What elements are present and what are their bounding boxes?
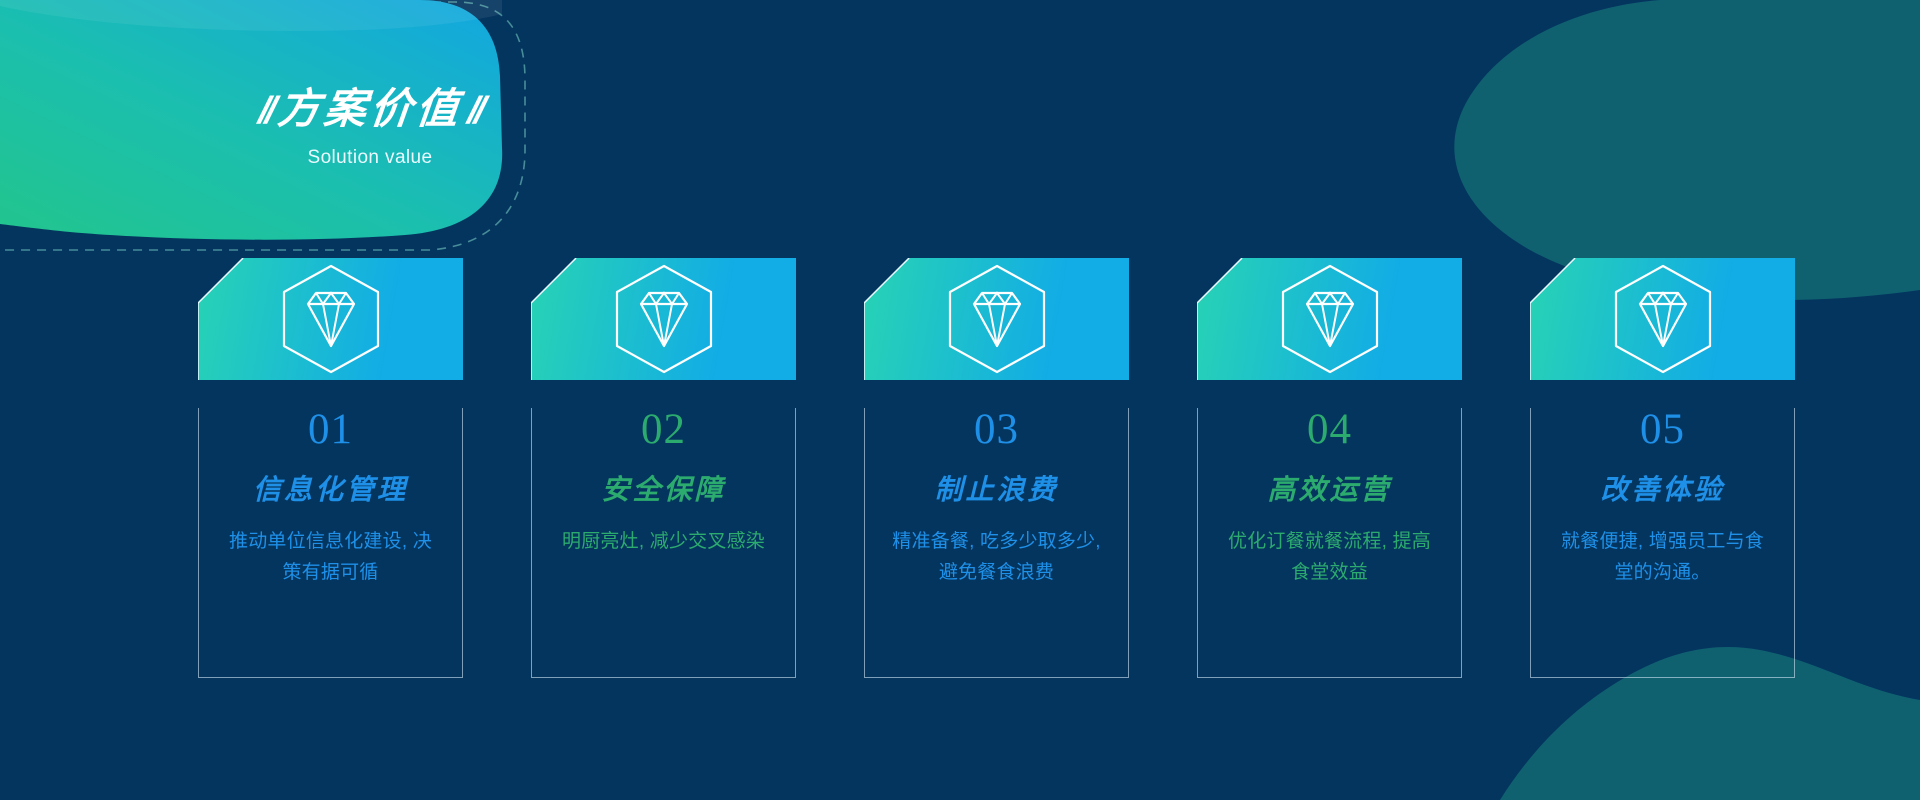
diamond-hexagon-icon — [1611, 263, 1715, 375]
value-card[interactable]: 01 信息化管理 推动单位信息化建设, 决策有据可循 — [198, 258, 463, 678]
card-number: 03 — [865, 408, 1128, 451]
value-card[interactable]: 02 安全保障 明厨亮灶, 减少交叉感染 — [531, 258, 796, 678]
slash-right-icon: // — [460, 90, 490, 132]
card-header — [198, 258, 463, 380]
diamond-hexagon-icon — [945, 263, 1049, 375]
card-header — [531, 258, 796, 380]
card-body: 05 改善体验 就餐便捷, 增强员工与食堂的沟通。 — [1530, 408, 1795, 678]
card-description: 就餐便捷, 增强员工与食堂的沟通。 — [1552, 527, 1774, 589]
card-description: 精准备餐, 吃多少取多少, 避免餐食浪费 — [886, 527, 1108, 589]
value-card-list: 01 信息化管理 推动单位信息化建设, 决策有据可循 — [198, 258, 1795, 678]
slide-canvas: //方案价值// Solution value — [0, 0, 1920, 800]
card-title: 制止浪费 — [865, 477, 1128, 505]
diamond-hexagon-icon — [1278, 263, 1382, 375]
value-card[interactable]: 03 制止浪费 精准备餐, 吃多少取多少, 避免餐食浪费 — [864, 258, 1129, 678]
card-description: 明厨亮灶, 减少交叉感染 — [553, 527, 775, 558]
card-number: 02 — [532, 408, 795, 451]
card-body: 04 高效运营 优化订餐就餐流程, 提高食堂效益 — [1197, 408, 1462, 678]
card-body: 02 安全保障 明厨亮灶, 减少交叉感染 — [531, 408, 796, 678]
card-title: 改善体验 — [1531, 477, 1794, 505]
card-title: 高效运营 — [1198, 477, 1461, 505]
diamond-hexagon-icon — [612, 263, 716, 375]
card-description: 优化订餐就餐流程, 提高食堂效益 — [1219, 527, 1441, 589]
card-description: 推动单位信息化建设, 决策有据可循 — [220, 527, 442, 589]
section-heading: //方案价值// Solution value — [160, 85, 580, 169]
diamond-hexagon-icon — [279, 263, 383, 375]
card-header — [1530, 258, 1795, 380]
page-title: 方案价值 — [276, 87, 465, 133]
heading-title-row: //方案价值// — [157, 85, 582, 135]
card-body: 01 信息化管理 推动单位信息化建设, 决策有据可循 — [198, 408, 463, 678]
card-number: 04 — [1198, 408, 1461, 451]
card-header — [864, 258, 1129, 380]
card-header — [1197, 258, 1462, 380]
card-number: 05 — [1531, 408, 1794, 451]
value-card[interactable]: 04 高效运营 优化订餐就餐流程, 提高食堂效益 — [1197, 258, 1462, 678]
card-number: 01 — [199, 408, 462, 451]
card-title: 安全保障 — [532, 477, 795, 505]
card-title: 信息化管理 — [199, 477, 462, 505]
heading-subtitle: Solution value — [160, 147, 580, 169]
card-body: 03 制止浪费 精准备餐, 吃多少取多少, 避免餐食浪费 — [864, 408, 1129, 678]
value-card[interactable]: 05 改善体验 就餐便捷, 增强员工与食堂的沟通。 — [1530, 258, 1795, 678]
